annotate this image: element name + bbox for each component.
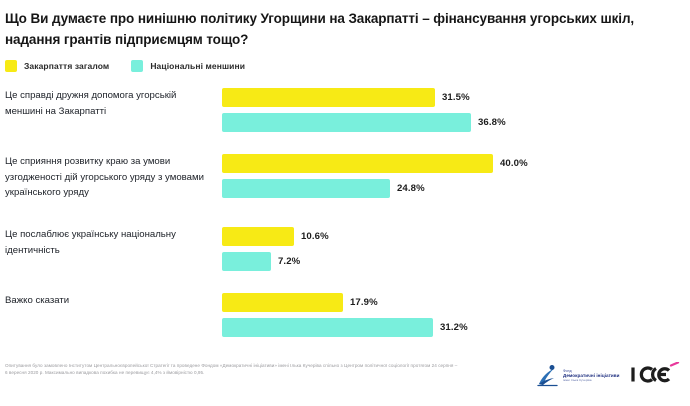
bar-row-series2[interactable]: 24.8%: [222, 179, 528, 198]
category-label: Це справді дружня допомога угорській мен…: [5, 88, 210, 119]
bar-series2[interactable]: [222, 179, 390, 198]
footnote-text: Опитування було замовлено Інститутом Цен…: [5, 362, 460, 377]
bar-row-series1[interactable]: 17.9%: [222, 293, 468, 312]
bar-value-series2: 36.8%: [478, 117, 506, 128]
chart-title: Що Ви думаєте про нинішню політику Угорщ…: [5, 8, 665, 50]
bar-series1[interactable]: [222, 154, 493, 173]
bar-row-series2[interactable]: 7.2%: [222, 252, 329, 271]
legend-label-zakarpattia: Закарпаття загалом: [24, 61, 109, 71]
legend-item-minorities[interactable]: Національні меншини: [131, 60, 245, 72]
bar-pair: 40.0% 24.8%: [222, 154, 528, 198]
bar-row-series2[interactable]: 36.8%: [222, 113, 506, 132]
bar-series1[interactable]: [222, 227, 294, 246]
legend-label-minorities: Національні меншини: [150, 61, 245, 71]
bar-row-series1[interactable]: 10.6%: [222, 227, 329, 246]
category-label: Це послаблює українську національну іден…: [5, 227, 210, 258]
legend-swatch-yellow: [5, 60, 17, 72]
legend-swatch-cyan: [131, 60, 143, 72]
dif-logo-icon: [537, 364, 559, 388]
chart-legend: Закарпаття загалом Національні меншини: [5, 60, 245, 72]
bar-value-series1: 17.9%: [350, 297, 378, 308]
bar-row-series1[interactable]: 31.5%: [222, 88, 506, 107]
bar-row-series1[interactable]: 40.0%: [222, 154, 528, 173]
dif-logo-line3: імені Ілька Кучеріва: [563, 379, 620, 382]
bar-row-series2[interactable]: 31.2%: [222, 318, 468, 337]
bar-series2[interactable]: [222, 113, 471, 132]
bar-series1[interactable]: [222, 88, 435, 107]
bar-series2[interactable]: [222, 252, 271, 271]
bar-value-series2: 7.2%: [278, 256, 300, 267]
chart-container: Що Ви думаєте про нинішню політику Угорщ…: [0, 0, 690, 406]
footer-logos: Фонд Демократичні ініціативи імені Ілька…: [482, 358, 682, 398]
bar-pair: 10.6% 7.2%: [222, 227, 329, 271]
dif-logo-text: Фонд Демократичні ініціативи імені Ілька…: [563, 370, 620, 382]
bar-pair: 31.5% 36.8%: [222, 88, 506, 132]
bar-value-series1: 31.5%: [442, 92, 470, 103]
category-label: Важко сказати: [5, 293, 210, 309]
ices-logo[interactable]: [630, 362, 686, 386]
bar-series1[interactable]: [222, 293, 343, 312]
dif-logo[interactable]: Фонд Демократичні ініціативи імені Ілька…: [537, 364, 620, 388]
plot-area: Це справді дружня допомога угорській мен…: [0, 88, 690, 348]
bar-value-series1: 40.0%: [500, 158, 528, 169]
bar-value-series2: 24.8%: [397, 183, 425, 194]
legend-item-zakarpattia[interactable]: Закарпаття загалом: [5, 60, 109, 72]
bar-series2[interactable]: [222, 318, 433, 337]
bar-value-series2: 31.2%: [440, 322, 468, 333]
bar-value-series1: 10.6%: [301, 231, 329, 242]
bar-pair: 17.9% 31.2%: [222, 293, 468, 337]
category-label: Це сприяння розвитку краю за умови узгод…: [5, 154, 210, 201]
